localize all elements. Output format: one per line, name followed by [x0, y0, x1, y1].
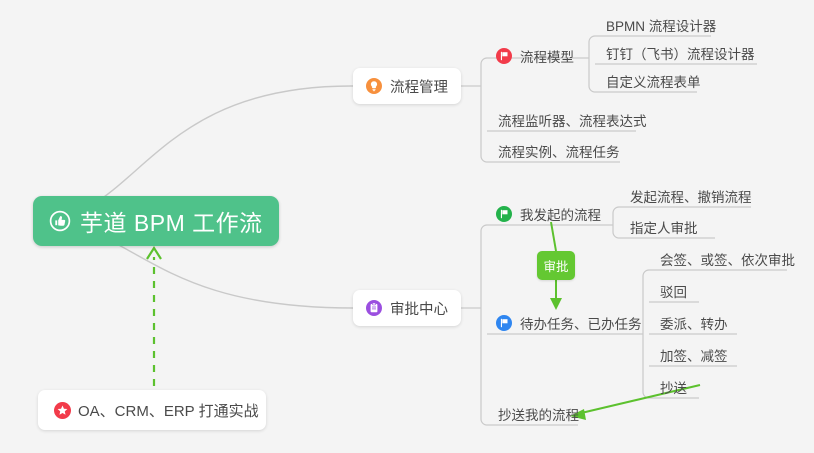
leaf-label-delegate-transfer: 委派、转办 — [660, 313, 728, 333]
branch-node-approval-center[interactable]: 审批中心 — [353, 290, 461, 326]
leaf-label-start-cancel-process: 发起流程、撤销流程 — [630, 186, 752, 206]
branch-node-process-management[interactable]: 流程管理 — [353, 68, 461, 104]
leaf-label-my-initiated-processes: 我发起的流程 — [520, 204, 601, 224]
mindmap-canvas: 芋道 BPM 工作流 流程管理 流程模型 BPMN 流程设计器 钉钉（飞书）流程 — [0, 0, 814, 453]
leaf-label-assignee-approval: 指定人审批 — [630, 217, 698, 237]
leaf-label-add-remove-sign: 加签、减签 — [660, 345, 728, 365]
footnote-label-oa-crm-erp: OA、CRM、ERP 打通实战 — [78, 400, 259, 421]
leaf-label-custom-process-form: 自定义流程表单 — [606, 71, 701, 91]
leaf-process-instance-task[interactable]: 流程实例、流程任务 — [492, 138, 626, 165]
leaf-reject[interactable]: 驳回 — [654, 278, 693, 305]
thumbs-up-icon — [49, 210, 71, 232]
leaf-todo-done-tasks[interactable]: 待办任务、已办任务 — [492, 310, 648, 337]
approve-tag-label: 审批 — [543, 256, 568, 275]
annotation-footnote-arrowhead — [147, 248, 161, 259]
root-label: 芋道 BPM 工作流 — [80, 204, 263, 238]
leaf-label-countersign-orsign-sequential: 会签、或签、依次审批 — [660, 249, 795, 269]
leaf-delegate-transfer[interactable]: 委派、转办 — [654, 310, 734, 337]
root-node[interactable]: 芋道 BPM 工作流 — [33, 196, 279, 246]
leaf-label-reject: 驳回 — [660, 281, 687, 301]
leaf-label-bpmn-designer: BPMN 流程设计器 — [606, 15, 716, 35]
leaf-label-dingtalk-feishu-designer: 钉钉（飞书）流程设计器 — [606, 43, 755, 63]
leaf-label-todo-done-tasks: 待办任务、已办任务 — [520, 313, 642, 333]
star-icon — [54, 402, 70, 418]
branch-label-approval-center: 审批中心 — [390, 298, 448, 319]
flag-icon-green — [496, 206, 512, 222]
branch-label-process-management: 流程管理 — [390, 76, 448, 97]
leaf-add-remove-sign[interactable]: 加签、减签 — [654, 342, 734, 369]
wire-process-model-spine — [589, 36, 595, 92]
wire-approval-center-spine — [481, 225, 487, 425]
wire-my-initiated-spine — [613, 207, 619, 238]
leaf-bpmn-designer[interactable]: BPMN 流程设计器 — [600, 12, 722, 39]
annotation-approve-arrowhead — [550, 298, 562, 310]
leaf-assignee-approval[interactable]: 指定人审批 — [624, 214, 704, 241]
leaf-dingtalk-feishu-designer[interactable]: 钉钉（飞书）流程设计器 — [600, 40, 761, 67]
leaf-label-process-listener-expression: 流程监听器、流程表达式 — [498, 110, 647, 130]
leaf-custom-process-form[interactable]: 自定义流程表单 — [600, 68, 707, 95]
leaf-start-cancel-process[interactable]: 发起流程、撤销流程 — [624, 183, 758, 210]
leaf-label-cc: 抄送 — [660, 377, 687, 397]
leaf-label-process-model: 流程模型 — [520, 46, 574, 66]
leaf-label-process-instance-task: 流程实例、流程任务 — [498, 141, 620, 161]
clipboard-icon — [366, 300, 382, 316]
leaf-process-model[interactable]: 流程模型 — [492, 43, 580, 70]
footnote-node-oa-crm-erp[interactable]: OA、CRM、ERP 打通实战 — [38, 390, 266, 430]
leaf-cc-to-me-processes[interactable]: 抄送我的流程 — [492, 401, 585, 428]
leaf-countersign-orsign-sequential[interactable]: 会签、或签、依次审批 — [654, 246, 801, 273]
leaf-my-initiated-processes[interactable]: 我发起的流程 — [492, 201, 607, 228]
wire-process-management-spine — [481, 58, 487, 162]
lightbulb-icon — [366, 78, 382, 94]
leaf-cc[interactable]: 抄送 — [654, 374, 693, 401]
flag-icon-red — [496, 48, 512, 64]
approve-tag[interactable]: 审批 — [537, 251, 575, 280]
leaf-process-listener-expression[interactable]: 流程监听器、流程表达式 — [492, 107, 653, 134]
flag-icon-blue — [496, 315, 512, 331]
leaf-label-cc-to-me-processes: 抄送我的流程 — [498, 404, 579, 424]
